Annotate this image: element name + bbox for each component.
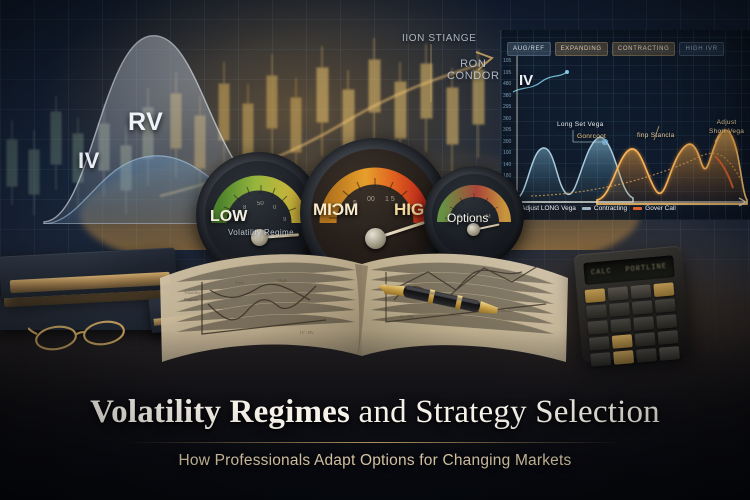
calculator-key[interactable] (586, 304, 607, 319)
volatility-regime-caption: Volatility Regime (228, 228, 294, 237)
calculator-display-left: CALC (591, 268, 612, 278)
calculator-key[interactable] (609, 302, 630, 317)
legend-label: Adjust LONG Vega (521, 205, 576, 212)
annotation-adjust-short-vega-line1: Adjust (709, 118, 744, 127)
svg-text:00: 00 (367, 196, 375, 203)
calculator-key[interactable] (656, 314, 677, 329)
calculator-display-right: PORTLINE (625, 263, 667, 275)
svg-text:0: 0 (273, 205, 277, 211)
legend-item-contracting: Contracting (582, 205, 627, 212)
page-title-bold: Volatility Regimes (90, 394, 350, 430)
callout-leader-lines (425, 40, 475, 110)
rv-curve-label: RV (128, 108, 163, 137)
calculator-key[interactable] (655, 298, 676, 313)
legend-label: Contracting (594, 205, 627, 212)
legend-swatch-icon (582, 207, 591, 210)
calculator-key[interactable] (653, 282, 674, 297)
legend-label: Gover Call (645, 205, 676, 212)
options-gauge-value: Options (447, 211, 488, 225)
svg-text:Low: Low (236, 280, 245, 285)
calculator-key[interactable] (585, 288, 606, 303)
panel-legend: Adjust LONG Vega Contracting Gover Call (509, 205, 676, 212)
annotation-iron-strangle: finp Stancla (637, 132, 675, 139)
page-title: Volatility Regimes and Strategy Selectio… (0, 394, 750, 431)
legend-swatch-icon (633, 207, 642, 210)
annotation-condor: Gonrcoot (577, 133, 606, 140)
calculator-display: CALC PORTLINE (583, 255, 675, 285)
annotation-adjust-short-vega: Adjust Short Vega (709, 118, 744, 136)
calculator-key[interactable] (630, 284, 651, 299)
annotation-adjust-short-vega-line2: Short Vega (709, 127, 744, 136)
fountain-pen (372, 274, 512, 330)
legend-item-gover-call: Gover Call (633, 205, 676, 212)
page-title-light: and Strategy Selection (350, 394, 660, 430)
calculator-key[interactable] (633, 316, 654, 331)
medium-gauge-value: MIƆM (313, 200, 358, 220)
title-divider (125, 442, 625, 443)
page-subtitle: How Professionals Adapt Options for Chan… (0, 452, 750, 470)
annotation-long-set-vega: Long Set Vega (557, 121, 604, 128)
svg-text:High: High (278, 278, 288, 283)
svg-text:Regime: Regime (184, 297, 198, 302)
volatility-analytics-panel: AUG/REF EXPANDING CONTRACTING HIGH IVR 1… (500, 30, 750, 220)
calculator-key[interactable] (608, 286, 629, 301)
calculator-key[interactable] (632, 300, 653, 315)
iv-curve-label: IV (78, 148, 100, 174)
low-gauge-value: LOW (210, 208, 247, 226)
svg-text:Volatility: Volatility (184, 290, 201, 295)
panel-iv-label: IV (519, 72, 533, 89)
poster-scene: RV IV IION STIANGE RON CONDOR AUG/REF EX… (0, 0, 750, 500)
title-block: Volatility Regimes and Strategy Selectio… (0, 394, 750, 470)
svg-text:9: 9 (283, 217, 287, 223)
svg-text:50: 50 (257, 201, 264, 207)
